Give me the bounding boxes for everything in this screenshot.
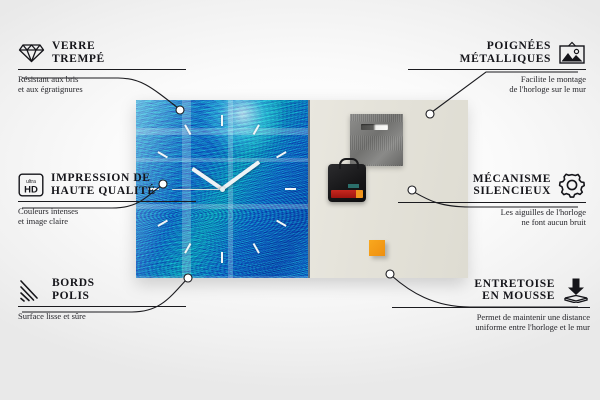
- callout-poignees-metalliques: POIGNÉES MÉTALLIQUES Facilite le montage…: [396, 40, 586, 94]
- clock-hub: [220, 187, 225, 192]
- ultra-hd-icon: ultra HD: [18, 173, 44, 197]
- foam-spacer: [369, 240, 385, 256]
- polished-edges-icon: [18, 278, 45, 302]
- callout-divider: [18, 69, 186, 70]
- callout-title: ENTRETOISE EN MOUSSE: [474, 278, 555, 303]
- callout-impression-haute-qualite: ultra HD IMPRESSION DE HAUTE QUALITÉ Cou…: [18, 172, 208, 226]
- callout-divider: [18, 201, 196, 202]
- callout-subtitle: Surface lisse et sûre: [18, 311, 198, 321]
- callout-subtitle: Couleurs intenses et image claire: [18, 206, 208, 226]
- callout-subtitle: Les aiguilles de l'horloge ne font aucun…: [386, 207, 586, 227]
- callout-divider: [398, 202, 586, 203]
- svg-text:HD: HD: [24, 184, 38, 195]
- mechanism-chip: [348, 184, 359, 188]
- callout-subtitle: Permet de maintenir une distance uniform…: [380, 312, 590, 332]
- callout-title: POIGNÉES MÉTALLIQUES: [460, 40, 551, 65]
- callout-title: MÉCANISME SILENCIEUX: [473, 173, 551, 198]
- callout-mecanisme-silencieux: MÉCANISME SILENCIEUX Les aiguilles de l'…: [386, 172, 586, 227]
- picture-hanger-icon: [558, 41, 586, 65]
- callout-title: IMPRESSION DE HAUTE QUALITÉ: [51, 172, 156, 197]
- callout-title: VERRE TREMPÉ: [52, 40, 105, 65]
- gear-icon: [558, 172, 586, 198]
- callout-entretoise-en-mousse: ENTRETOISE EN MOUSSE Permet de maintenir…: [380, 277, 590, 332]
- callout-bords-polis: BORDS POLIS Surface lisse et sûre: [18, 277, 198, 321]
- callout-divider: [392, 307, 590, 308]
- battery: [331, 190, 363, 198]
- battery-plus-terminal: [356, 190, 363, 198]
- callout-subtitle: Facilite le montage de l'horloge sur le …: [396, 74, 586, 94]
- mechanism-hanging-loop: [339, 158, 359, 169]
- callout-divider: [408, 69, 586, 70]
- foam-spacer-icon: [562, 277, 590, 303]
- infographic-canvas: VERRE TREMPÉ Résistant aux bris et aux é…: [0, 0, 600, 400]
- clock-tick: [285, 188, 296, 190]
- callout-verre-trempe: VERRE TREMPÉ Résistant aux bris et aux é…: [18, 40, 198, 94]
- clock-mechanism: [328, 164, 366, 202]
- hanger-slot: [361, 124, 388, 130]
- clock-tick: [221, 252, 223, 263]
- callout-title: BORDS POLIS: [52, 277, 95, 302]
- diamond-icon: [18, 41, 45, 64]
- metal-hanger-plate: [350, 114, 403, 166]
- clock-tick: [221, 115, 223, 126]
- callout-subtitle: Résistant aux bris et aux égratignures: [18, 74, 198, 94]
- callout-divider: [18, 306, 186, 307]
